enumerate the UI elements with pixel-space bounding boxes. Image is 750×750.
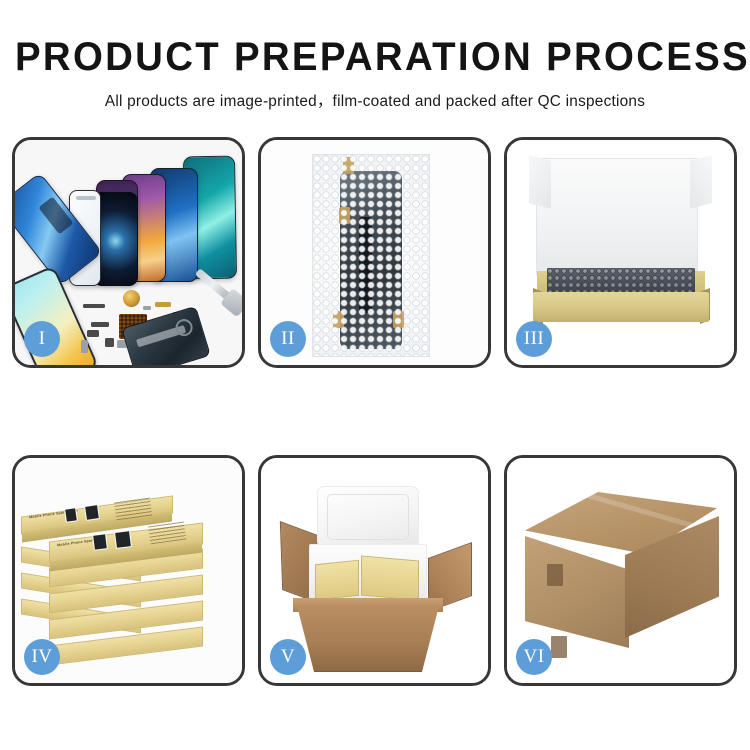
box-lid-white [536, 158, 698, 276]
tray-contents-bubble-wrapped [547, 268, 695, 294]
step-badge-1: I [24, 321, 60, 357]
bubble-texture-overlay [313, 155, 429, 356]
page-subtitle: All products are image-printed，film-coat… [4, 89, 747, 111]
step-panel-foam-carton-packing[interactable]: V [258, 455, 491, 686]
flex-cable-part [91, 322, 109, 327]
coil-part-icon [123, 290, 140, 307]
foam-lid [317, 486, 419, 548]
step-badge-5: V [270, 639, 306, 675]
tray-front-panel-kraft [533, 292, 709, 322]
inner-yellow-box-group-right [361, 555, 419, 600]
step-image-inner-tray-box-packing: III [507, 140, 734, 365]
box-window-screen-rear-2 [84, 504, 100, 521]
box-window-screen-rear-1 [64, 507, 78, 523]
page-title: PRODUCT PREPARATION PROCESS [15, 36, 735, 78]
carton-tape-patch-lower [551, 636, 567, 658]
carton-body [297, 606, 439, 672]
small-clip-part [143, 306, 151, 310]
step-image-product-parts-overview: I [15, 140, 242, 365]
step-image-retail-box-stacking: Mobile Phone Spare Parts Mobile Phone Sp… [15, 458, 242, 683]
step-panel-bubble-wrap-packing[interactable]: II [258, 137, 491, 368]
step-badge-6: VI [516, 639, 552, 675]
box-lid-flap-left [529, 155, 551, 208]
button-part [105, 338, 114, 347]
step-panel-retail-box-stacking[interactable]: Mobile Phone Spare Parts Mobile Phone Sp… [12, 455, 245, 686]
box-window-screen-front-2 [114, 530, 132, 549]
gold-connector-part [155, 302, 171, 307]
box-window-screen-front-1 [92, 533, 108, 551]
sim-tray-part [81, 340, 88, 353]
step-panel-sealed-shipping-carton[interactable]: VI [504, 455, 737, 686]
process-step-grid: I II [12, 137, 738, 677]
step-image-bubble-wrap-packing: II [261, 140, 488, 365]
bubble-wrap-bag [312, 154, 430, 357]
step-badge-3: III [516, 321, 552, 357]
step-badge-4: IV [24, 639, 60, 675]
step-panel-product-parts-overview[interactable]: I [12, 137, 245, 368]
strip-part [83, 304, 105, 308]
step-badge-2: II [270, 321, 306, 357]
carton-tape-patch-upper [547, 564, 563, 586]
step-image-sealed-shipping-carton: VI [507, 458, 734, 683]
inner-yellow-box-group-left [315, 560, 359, 601]
header: PRODUCT PREPARATION PROCESS All products… [0, 0, 750, 111]
step-image-foam-carton-packing: V [261, 458, 488, 683]
box-lid-flap-right [690, 155, 712, 208]
yellow-boxes-inside [315, 554, 421, 598]
bracket-part [87, 330, 99, 337]
step-panel-inner-tray-box-packing[interactable]: III [504, 137, 737, 368]
